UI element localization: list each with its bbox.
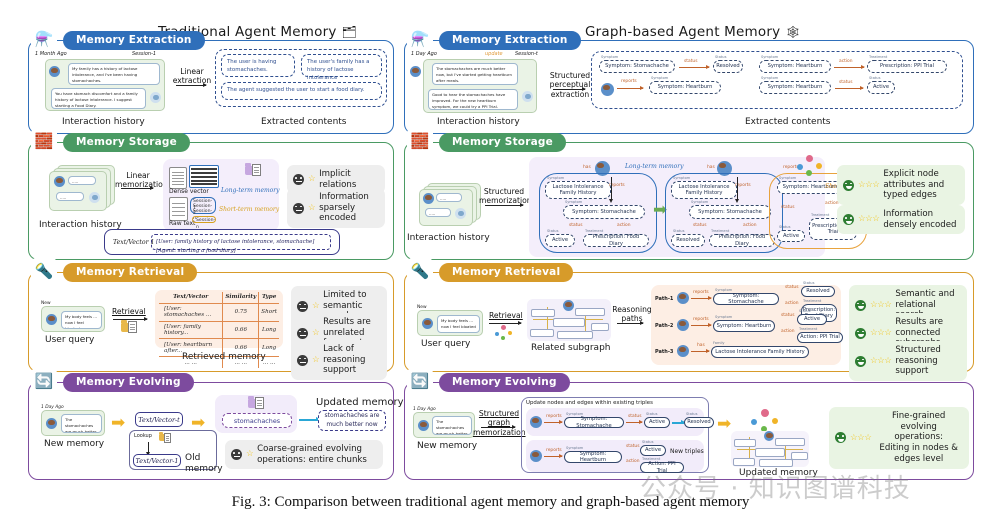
right-column-title: Graph-based Agent Memory🕸 [585, 24, 801, 40]
sad-face-icon [297, 328, 308, 339]
graph-decoration-icon [751, 409, 779, 433]
long-term-highlight-ring [665, 173, 783, 253]
node-type-label: Symptom [761, 55, 778, 59]
reasoning-paths-label: Reasoning paths [611, 305, 653, 324]
edge-arrow [691, 325, 711, 326]
edge-arrow [617, 88, 643, 89]
right-new-memory-caption: New memory [417, 441, 477, 451]
graph-node: Symptom: Stomachache [564, 417, 624, 428]
sad-face-icon [293, 203, 304, 214]
right-retrieval-arrow-label: Retrieval [489, 311, 523, 320]
node-type-label: Status [799, 309, 810, 313]
person-node-avatar [530, 450, 542, 462]
edge-label: status [785, 285, 799, 290]
star-rating: ☆ [308, 203, 315, 214]
person-node-avatar [563, 300, 574, 311]
table-row: [User: stomachaches ... 0.75 Short [159, 303, 279, 321]
person-node-avatar [677, 292, 689, 304]
raw-text-icon [169, 197, 188, 221]
node-type-label: Treatment [869, 55, 887, 59]
star-rating: ☆☆☆ [870, 356, 891, 367]
node-type-label: Symptom [761, 76, 778, 80]
graph-node: Active [797, 314, 827, 325]
happy-face-icon [843, 180, 854, 191]
edge-label: reports [546, 448, 562, 453]
left-evolving-tag: Memory Evolving [63, 373, 194, 392]
related-subgraph-thumb [527, 299, 611, 341]
detail-body: [User: family history of lactose intoler… [151, 234, 331, 250]
agent-message-bubble: Good to hear the stomachaches have impro… [428, 89, 518, 110]
edge-label: reports [546, 414, 562, 419]
person-node-avatar [530, 416, 542, 428]
path-2-label: Path-2 [655, 323, 673, 329]
old-memory-label: Old memory [185, 453, 223, 475]
short-term-memory-label: Short-term memory [219, 206, 279, 213]
document-icon [169, 167, 187, 189]
user-query-bubble: My body feels ... now I feel bloated ... [437, 315, 480, 333]
graph-decoration-icon [495, 325, 513, 341]
graph-decoration-icon [797, 155, 823, 177]
node-type-label: Status [869, 76, 880, 80]
figure-caption: Fig. 3: Comparison between traditional a… [0, 494, 981, 511]
storage-icon: 🧱 [31, 128, 57, 154]
edge-arrow [834, 67, 864, 68]
related-subgraph-caption: Related subgraph [531, 343, 611, 353]
left-updated-memory-caption: Updated memory [316, 397, 404, 408]
right-storage-history-caption: Interaction history [407, 233, 490, 243]
memory-folder-icon [248, 396, 264, 408]
right-memory-storage-panel: 🧱 Memory Storage ..... ..... Interaction… [404, 142, 974, 260]
node-type-label: Symptom [715, 288, 732, 292]
col-similarity: Similarity [223, 292, 259, 303]
edge-label: reports [693, 290, 709, 295]
edge-label: status [781, 313, 795, 318]
extracted-item-1: The user is having stomachaches. [221, 54, 295, 77]
graph-node: Action: PPI Trial [797, 332, 843, 343]
edge-label: action [626, 459, 640, 464]
node-type-label: Status [686, 412, 697, 416]
graph-node: Symptom: Stomachache [599, 60, 675, 73]
sad-face-icon [293, 174, 304, 185]
right-storage-pro-2: ☆☆☆ Information densely encoded [837, 205, 965, 234]
history-bubble-1: ..... [436, 193, 462, 202]
user-avatar [54, 176, 65, 187]
left-extraction-history-caption: Interaction history [62, 117, 145, 127]
right-retrieval-arrow [489, 323, 521, 324]
evolving-operations-box: Update nodes and edges within existing t… [521, 397, 709, 473]
retrieved-memory-table: Text/Vector Similarity Type [User: stoma… [155, 290, 283, 348]
figure-root: Traditional Agent Memory🗂 Graph-based Ag… [0, 0, 981, 517]
edge-arrow [691, 298, 711, 299]
evolving-icon: 🔄 [407, 368, 433, 394]
graph-node: Symptom: Heartburn [713, 320, 775, 332]
new-text-vector-chip: Text/Vector-t [135, 412, 183, 427]
update-arrow [299, 419, 319, 421]
left-memory-evolving-panel: 🔄 Memory Evolving 1 Day Ago The stomacha… [28, 382, 394, 480]
edge-label: status [839, 80, 853, 85]
edge-label: action [785, 301, 799, 306]
storage-icon: 🧱 [407, 128, 433, 154]
extraction-icon: ⚗️ [407, 26, 433, 52]
col-text-vector: Text/Vector [159, 292, 223, 303]
graph-icon: 🕸 [785, 25, 800, 39]
right-evolving-tag: Memory Evolving [439, 373, 570, 392]
left-extraction-session: Session-1 [132, 51, 156, 57]
star-rating: ☆☆☆ [858, 180, 879, 191]
happy-face-icon [855, 300, 866, 311]
left-extraction-time: 1 Month Ago [35, 51, 67, 57]
user-message-bubble: My family has a history of lactose intol… [68, 63, 160, 85]
star-rating: ☆ [312, 355, 319, 366]
left-memory-storage-panel: 🧱 Memory Storage ..... ..... Interaction… [28, 142, 394, 260]
updated-memory-subgraph [731, 431, 809, 467]
edge-arrow [679, 67, 709, 68]
long-term-memory-label: Long-term memory [625, 163, 684, 170]
left-retrieval-tag: Memory Retrieval [63, 263, 197, 282]
left-query-caption: User query [45, 335, 94, 345]
detail-key-label: Text/Vector 1 [113, 239, 154, 246]
star-rating: ☆☆☆ [850, 433, 871, 444]
left-extraction-tag: Memory Extraction [63, 31, 205, 50]
star-rating: ☆ [312, 328, 319, 339]
edge-label: reports [621, 79, 637, 84]
happy-face-icon [855, 356, 866, 367]
long-term-memory-label: Long-term memory [221, 187, 280, 194]
graph-node: Symptom: Stomachache [713, 293, 779, 305]
memory-folder-icon [121, 320, 137, 332]
left-storage-history-stack: ..... ..... [49, 165, 113, 207]
edge-arrow [544, 456, 562, 457]
node-type-label: Symptom [715, 315, 732, 319]
lookup-label: Lookup [134, 433, 152, 439]
old-memory-box: Lookup Text/Vector-1 Old memory [129, 430, 217, 470]
left-extracted-caption: Extracted contents [261, 117, 347, 127]
user-avatar [410, 66, 421, 77]
right-extracted-caption: Extracted contents [745, 117, 831, 127]
graph-node: Active [644, 417, 670, 428]
node-type-label: Symptom [651, 76, 668, 80]
left-user-query-card: My body feels ... now I feel bloated ... [41, 306, 105, 332]
edge-label: action [839, 59, 853, 64]
evolve-arrow-2: ➡ [191, 414, 205, 431]
memory-folder-icon [245, 163, 261, 175]
evolve-result-arrow: ➡ [717, 415, 731, 432]
replace-arrow [672, 422, 684, 424]
old-text-vector-chip: Text/Vector-1 [133, 454, 181, 467]
sad-face-icon [297, 301, 308, 312]
user-avatar [46, 314, 57, 325]
left-retrieval-con-3: ☆ Lack of reasoning support [291, 340, 387, 380]
node-type-label: Status [642, 440, 653, 444]
edge-arrow [626, 422, 642, 423]
long-term-highlight-ring [539, 173, 657, 253]
session-chip-2: Session-n [192, 216, 216, 223]
edge-label: action [781, 329, 795, 334]
user-avatar [46, 418, 57, 429]
right-new-memory-card: The stomachaches are much better now, bu… [413, 412, 475, 438]
graph-node: Symptom: Heartburn [759, 81, 831, 94]
left-memory-retrieval-panel: 🔦 Memory Retrieval New My body feels ...… [28, 272, 394, 372]
agent-avatar [89, 192, 100, 203]
star-rating: ☆ [246, 449, 253, 460]
evolving-target-area: stomachaches [215, 395, 297, 433]
right-memory-extraction-panel: ⚗️ Memory Extraction 1 Day Ago update Se… [404, 40, 974, 134]
left-memory-extraction-panel: ⚗️ Memory Extraction 1 Month Ago Session… [28, 40, 394, 134]
agent-avatar [150, 92, 161, 103]
user-query-bubble: My body feels ... now I feel bloated ... [61, 311, 102, 329]
edge-label: status [626, 444, 640, 449]
retrieved-memory-caption: Retrieved memory [182, 352, 266, 362]
history-bubble-2: ..... [425, 208, 451, 217]
happy-face-icon [835, 432, 846, 443]
star-rating: ☆☆☆ [870, 328, 891, 339]
agent-message-bubble: You have stomach discomfort and a family… [51, 88, 146, 109]
target-chunk-chip: stomachaches [222, 413, 292, 428]
node-type-label: Family [713, 341, 725, 345]
edge-label: has [707, 165, 715, 170]
extracted-item-3: The agent suggested the user to start a … [221, 82, 382, 100]
graph-node: Lactose Intolerance Family History [711, 346, 809, 358]
left-storage-tag: Memory Storage [63, 133, 190, 152]
evolving-icon: 🔄 [31, 368, 57, 394]
session-chip-1: Session-1 Session-2 Session-n [190, 197, 216, 214]
edge-arrow [691, 351, 709, 352]
linear-extraction-label: Linear extraction [171, 67, 213, 86]
graph-node: Resolved [801, 286, 835, 297]
structured-graph-memorization-label: Structured graph memorization [473, 409, 525, 437]
new-memory-bubble: The stomachaches are much better now, bu… [61, 414, 102, 433]
right-retrieval-tag: Memory Retrieval [439, 263, 573, 282]
folder-icon: 🗂 [342, 25, 357, 39]
left-storage-con-2: ☆ Information sparsely encoded [287, 188, 385, 228]
right-extraction-tag: Memory Extraction [439, 31, 581, 50]
star-rating: ☆☆☆ [870, 300, 891, 311]
person-node-avatar [764, 431, 774, 441]
right-query-caption: User query [421, 339, 470, 349]
happy-face-icon [855, 328, 866, 339]
right-extraction-session: Session-t [515, 51, 538, 57]
star-rating: ☆☆☆ [858, 214, 879, 225]
new-memory-bubble: The stomachaches are much better now, bu… [432, 416, 472, 435]
path-3-label: Path-3 [655, 349, 673, 355]
update-existing-triple-row: reports Symptom Symptom: Stomachache sta… [526, 408, 704, 436]
graph-node: Symptom: Heartburn [649, 81, 721, 94]
agent-avatar [455, 208, 466, 219]
node-type-label: Treatment [803, 299, 821, 303]
table-row: [User: family history... 0.66 Long [159, 321, 279, 339]
node-type-label: Status [646, 412, 657, 416]
happy-face-icon [843, 214, 854, 225]
structured-memorization-label: Structured memorization [479, 187, 529, 206]
edge-label: has [583, 165, 591, 170]
user-avatar [418, 420, 429, 431]
left-interaction-history-card: My family has a history of lactose intol… [45, 59, 165, 111]
user-avatar [422, 318, 433, 329]
graph-node: Symptom: Heartburn [759, 60, 831, 73]
new-triples-label: New triples [670, 448, 704, 455]
agent-avatar [522, 91, 533, 102]
star-rating: ☆ [312, 301, 319, 312]
right-extraction-history-caption: Interaction history [437, 117, 520, 127]
edge-arrow [544, 422, 562, 423]
right-interaction-history-card: The stomachaches are much better now, bu… [423, 59, 537, 113]
user-avatar [49, 66, 60, 77]
edge-label: has [697, 343, 705, 348]
left-new-memory-card: The stomachaches are much better now, bu… [41, 410, 105, 436]
edge-arrow [835, 88, 863, 89]
path-1-label: Path-1 [655, 296, 673, 302]
left-retrieval-arrow-label: Retrieval [112, 307, 146, 316]
right-memory-retrieval-panel: 🔦 Memory Retrieval New My body feels ...… [404, 272, 974, 372]
graph-node: Active [867, 81, 895, 94]
evolve-arrow-1: ➡ [111, 414, 125, 431]
retrieval-icon: 🔦 [407, 258, 433, 284]
sad-face-icon [297, 355, 308, 366]
left-storage-cluster: Dense vector Raw text Session-1 Session-… [163, 159, 279, 231]
right-storage-pro-1: ☆☆☆ Explicit node attributes and typed e… [837, 165, 965, 205]
updated-memory-chip: stomachaches are much better now [318, 410, 386, 431]
dense-vector-label: Dense vector [169, 188, 209, 195]
person-node-avatar [601, 83, 614, 96]
right-memory-evolving-panel: 🔄 Memory Evolving 1 Day Ago The stomacha… [404, 382, 974, 480]
graph-node: Active [640, 445, 666, 456]
person-node-avatar [677, 345, 689, 357]
graph-node: Symptom: Heartburn [564, 451, 622, 463]
text-vector-detail-card: Text/Vector 1 [User: family history of l… [104, 229, 340, 255]
left-evolving-con-1: ☆ Coarse-grained evolving operations: en… [225, 440, 383, 469]
graph-node: Prescription: PPI Trial [867, 60, 947, 73]
edge-label: status [628, 414, 642, 419]
user-message-bubble: The stomachaches are much better now, bu… [432, 63, 518, 85]
history-bubble-2: ..... [56, 192, 84, 201]
right-storage-history-stack: ..... ..... [419, 183, 479, 223]
node-type-label: Status [715, 55, 726, 59]
sad-face-icon [231, 449, 242, 460]
linear-memorization-label: Linear memorization [115, 171, 161, 190]
extraction-icon: ⚗️ [31, 26, 57, 52]
left-new-memory-caption: New memory [44, 439, 104, 449]
node-type-label: Symptom [566, 446, 583, 450]
right-retrieval-pro-3: ☆☆☆ Structured reasoning support [849, 341, 967, 381]
person-node-avatar [677, 319, 689, 331]
col-type: Type [259, 292, 279, 303]
memory-folder-icon [159, 432, 171, 441]
right-storage-tag: Memory Storage [439, 133, 566, 152]
node-type-label: Symptom [601, 55, 618, 59]
dense-vector-icon [189, 165, 219, 188]
retrieval-icon: 🔦 [31, 258, 57, 284]
right-user-query-card: My body feels ... now I feel bloated ... [417, 310, 483, 336]
history-bubble-1: ..... [68, 176, 96, 185]
update-title: Update nodes and edges within existing t… [526, 400, 653, 406]
update-label: update [485, 51, 503, 57]
lookup-arrow [148, 442, 149, 452]
graph-node: Resolved [713, 60, 743, 73]
extracted-item-2: The user's family has a history of lacto… [301, 54, 382, 77]
right-evolving-pro-1: ☆☆☆ Fine-grained evolving operations: Ed… [829, 407, 969, 469]
node-type-label: Status [803, 281, 814, 285]
edge-label: status [684, 59, 698, 64]
graph-node: Resolved [684, 417, 714, 428]
star-rating: ☆ [308, 174, 315, 185]
edge-label: reports [693, 317, 709, 322]
node-type-label: Treatment [799, 327, 817, 331]
right-extraction-time: 1 Day Ago [411, 51, 437, 57]
user-avatar [423, 193, 434, 204]
